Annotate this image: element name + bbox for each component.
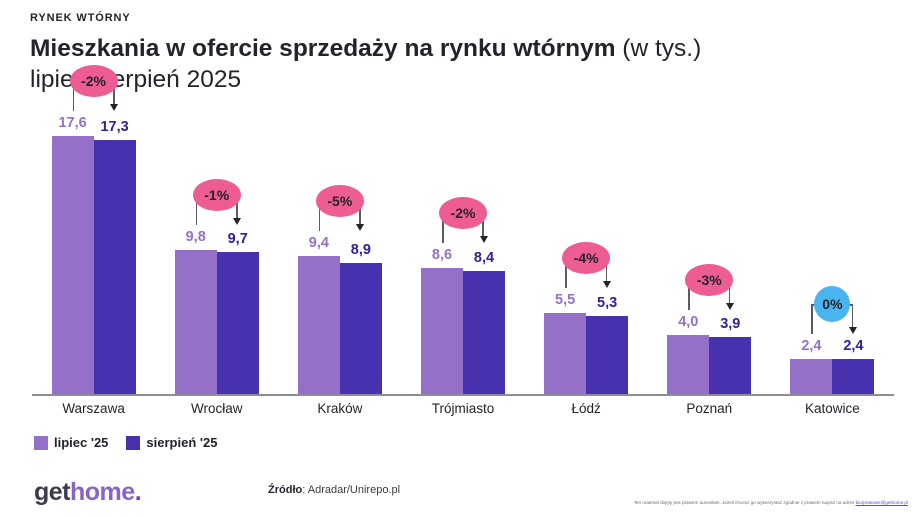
x-axis-label: Trójmiasto [401, 401, 524, 416]
chart-header: RYNEK WTÓRNY Mieszkania w ofercie sprzed… [30, 12, 701, 96]
bar-pair [52, 108, 136, 394]
bar-sierpien[interactable] [94, 140, 136, 394]
logo-get: get [34, 478, 70, 506]
bar-lipiec[interactable] [52, 136, 94, 394]
bar-sierpien[interactable] [340, 263, 382, 394]
x-axis-label: Kraków [278, 401, 401, 416]
x-axis-label: Poznań [648, 401, 771, 416]
bar-lipiec[interactable] [790, 359, 832, 394]
value-label-sierpien: 5,3 [586, 295, 628, 311]
logo-home: home [70, 478, 135, 506]
logo-dot: . [135, 478, 141, 506]
disclaimer-text: Ten materiał objęty jest prawem autorski… [634, 500, 856, 505]
title-main: Mieszkania w ofercie sprzedaży na rynku … [30, 35, 615, 62]
page-title: Mieszkania w ofercie sprzedaży na rynku … [30, 33, 701, 96]
source-label: Źródło [268, 484, 302, 496]
value-label-lipiec: 9,8 [175, 229, 217, 245]
bar-sierpien[interactable] [586, 316, 628, 394]
value-label-sierpien: 3,9 [709, 316, 751, 332]
bar-group: 17,617,3-2% [52, 108, 136, 394]
bar-group: 9,89,7-1% [175, 108, 259, 394]
chart-plot-area: 17,617,3-2%9,89,7-1%9,48,9-5%8,68,4-2%5,… [0, 105, 920, 397]
value-label-sierpien: 2,4 [832, 338, 874, 354]
disclaimer-email-link[interactable]: biurprasowe@gethome.pl [856, 500, 908, 505]
value-label-lipiec: 17,6 [52, 115, 94, 131]
value-label-sierpien: 17,3 [94, 119, 136, 135]
value-label-lipiec: 4,0 [667, 314, 709, 330]
arrow-down-icon [110, 104, 118, 111]
change-badge: -4% [562, 242, 610, 274]
arrow-down-icon [726, 303, 734, 310]
x-axis-label: Katowice [771, 401, 894, 416]
legend-label: lipiec '25 [54, 435, 108, 450]
change-badge: -5% [316, 185, 364, 217]
chart-legend: lipiec '25sierpień '25 [34, 435, 217, 450]
change-badge: -2% [439, 197, 487, 229]
title-subtitle: lipiec-sierpień 2025 [30, 64, 701, 95]
x-axis-label: Łódź [525, 401, 648, 416]
bar-lipiec[interactable] [544, 313, 586, 394]
bar-pair [667, 108, 751, 394]
arrow-down-icon [849, 327, 857, 334]
footer-divider [0, 466, 920, 467]
gethome-logo: gethome. [34, 478, 141, 507]
bar-pair [175, 108, 259, 394]
source-value: Adradar/Unirepo.pl [308, 484, 400, 496]
legend-item[interactable]: sierpień '25 [126, 435, 217, 450]
bar-lipiec[interactable] [421, 268, 463, 394]
value-label-lipiec: 9,4 [298, 235, 340, 251]
bar-group: 2,42,40% [790, 108, 874, 394]
bar-group: 8,68,4-2% [421, 108, 505, 394]
bar-lipiec[interactable] [298, 256, 340, 394]
bar-lipiec[interactable] [667, 335, 709, 394]
x-axis-label: Wrocław [155, 401, 278, 416]
x-axis-line [32, 394, 894, 396]
bar-sierpien[interactable] [463, 271, 505, 394]
value-label-lipiec: 8,6 [421, 247, 463, 263]
change-badge: -3% [685, 264, 733, 296]
legend-label: sierpień '25 [146, 435, 217, 450]
bar-sierpien[interactable] [709, 337, 751, 394]
change-badge: -1% [193, 179, 241, 211]
arrow-down-icon [233, 218, 241, 225]
legend-swatch [126, 436, 140, 450]
title-unit: (w tys.) [615, 35, 701, 62]
x-axis-label: Warszawa [32, 401, 155, 416]
change-badge: -2% [70, 65, 118, 97]
value-label-sierpien: 8,9 [340, 242, 382, 258]
bar-group: 9,48,9-5% [298, 108, 382, 394]
bar-lipiec[interactable] [175, 250, 217, 394]
eyebrow-label: RYNEK WTÓRNY [30, 12, 701, 24]
legend-item[interactable]: lipiec '25 [34, 435, 108, 450]
value-label-sierpien: 9,7 [217, 231, 259, 247]
value-label-sierpien: 8,4 [463, 250, 505, 266]
value-label-lipiec: 5,5 [544, 292, 586, 308]
source-note: Źródło: Adradar/Unirepo.pl [268, 484, 400, 496]
arrow-down-icon [480, 236, 488, 243]
bar-sierpien[interactable] [832, 359, 874, 394]
bar-group: 4,03,9-3% [667, 108, 751, 394]
bar-sierpien[interactable] [217, 252, 259, 394]
arrow-down-icon [356, 224, 364, 231]
copyright-disclaimer: Ten materiał objęty jest prawem autorski… [634, 500, 908, 505]
legend-swatch [34, 436, 48, 450]
arrow-down-icon [603, 281, 611, 288]
bar-group: 5,55,3-4% [544, 108, 628, 394]
value-label-lipiec: 2,4 [790, 338, 832, 354]
